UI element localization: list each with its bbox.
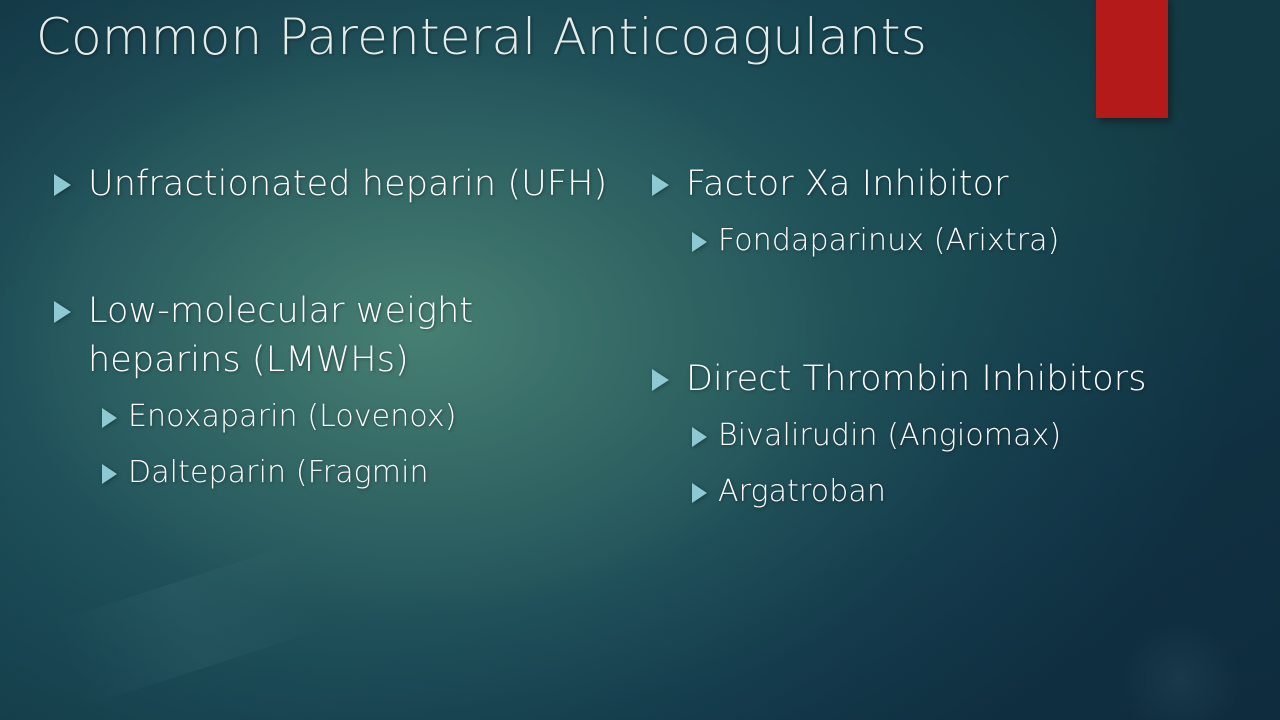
bullet-level1-label: Low-molecular weight heparins (LMWHs) [88,291,473,380]
bullet-level1: Factor Xa Inhibitor [638,160,1238,209]
bullet-level2: Fondaparinux (Arixtra) [638,213,1238,269]
bullet-group: Unfractionated heparin (UFH) [40,160,620,209]
bullet-group: Factor Xa Inhibitor Fondaparinux (Arixtr… [638,160,1238,269]
triangle-bullet-icon [54,174,71,196]
bullet-level2: Enoxaparin (Lovenox) [40,389,620,445]
bullet-level2-label: Argatroban [718,474,886,509]
bullet-level1-label: Direct Thrombin Inhibitors [686,359,1147,399]
bullet-level1: Direct Thrombin Inhibitors [638,355,1238,404]
bullet-level2-label: Dalteparin (Fragmin [128,455,429,490]
bullet-level2-label: Enoxaparin (Lovenox) [128,399,457,434]
sub-bullet-list: Fondaparinux (Arixtra) [638,213,1238,269]
triangle-bullet-icon [102,464,117,484]
triangle-bullet-icon [652,174,669,196]
bullet-level1: Low-molecular weight heparins (LMWHs) [40,287,620,385]
triangle-bullet-icon [692,427,707,447]
bullet-level2: Bivalirudin (Angiomax) [638,408,1238,464]
bullet-level2-label: Bivalirudin (Angiomax) [718,418,1061,453]
triangle-bullet-icon [54,301,71,323]
triangle-bullet-icon [692,232,707,252]
bullet-level1-label: Factor Xa Inhibitor [686,164,1009,204]
content-column-left: Unfractionated heparin (UFH) Low-molecul… [40,160,620,501]
slide-title: Common Parenteral Anticoagulants [36,6,1076,68]
bullet-level2: Dalteparin (Fragmin [40,445,620,501]
bullet-level2-label: Fondaparinux (Arixtra) [718,223,1059,258]
bullet-level2: Argatroban [638,464,1238,520]
triangle-bullet-icon [102,408,117,428]
bullet-group: Low-molecular weight heparins (LMWHs) En… [40,287,620,501]
triangle-bullet-icon [652,369,669,391]
accent-bar [1096,0,1168,118]
bullet-group: Direct Thrombin Inhibitors Bivalirudin (… [638,355,1238,520]
content-column-right: Factor Xa Inhibitor Fondaparinux (Arixtr… [638,160,1238,520]
slide-body: Unfractionated heparin (UFH) Low-molecul… [0,160,1280,640]
slide: Common Parenteral Anticoagulants Unfract… [0,0,1280,720]
sub-bullet-list: Bivalirudin (Angiomax) Argatroban [638,408,1238,520]
bullet-level1-label: Unfractionated heparin (UFH) [88,164,607,204]
triangle-bullet-icon [692,483,707,503]
bullet-level1: Unfractionated heparin (UFH) [40,160,620,209]
sub-bullet-list: Enoxaparin (Lovenox) Dalteparin (Fragmin [40,389,620,501]
